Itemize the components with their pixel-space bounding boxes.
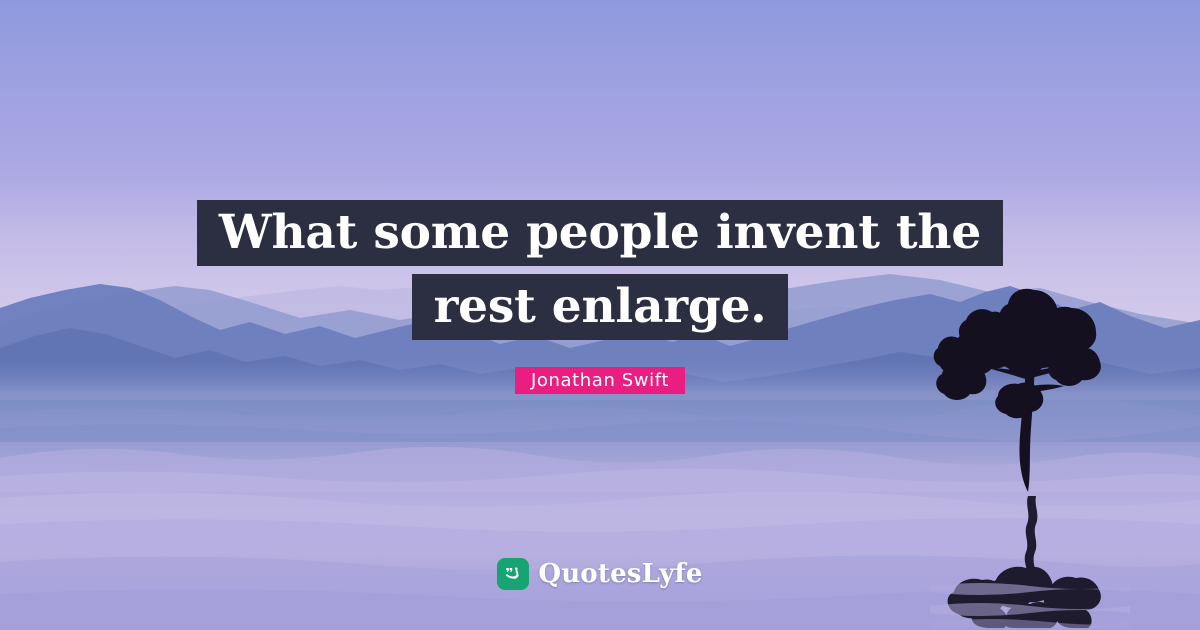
author-name-badge: Jonathan Swift: [515, 367, 685, 394]
quote-line-2: rest enlarge.: [412, 274, 789, 340]
quoteslyfe-wordmark: QuotesLyfe: [538, 559, 702, 589]
quote-line-1: What some people invent the: [197, 200, 1003, 266]
branding-footer[interactable]: QuotesLyfe: [0, 558, 1200, 590]
quoteslyfe-logo[interactable]: QuotesLyfe: [497, 558, 702, 590]
quote-smiley-icon: [497, 558, 529, 590]
quote-card: What some people invent the rest enlarge…: [0, 0, 1200, 630]
quote-text-block: What some people invent the rest enlarge…: [0, 200, 1200, 348]
author-attribution: Jonathan Swift: [0, 367, 1200, 394]
